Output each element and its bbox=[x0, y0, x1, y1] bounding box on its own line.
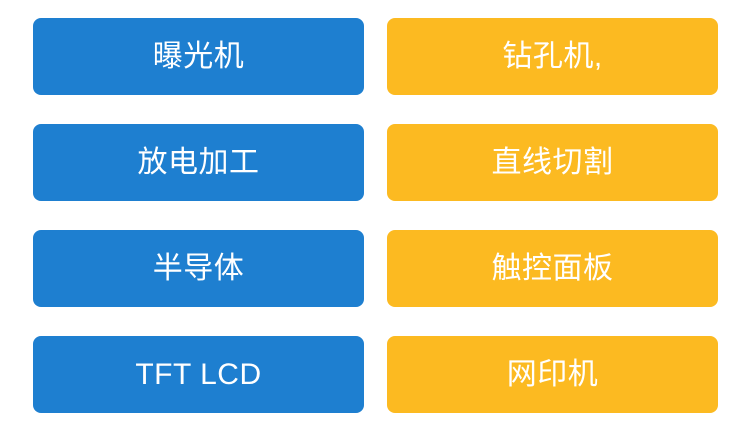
tag-button-screen-printing-machine[interactable]: 网印机 bbox=[387, 336, 718, 413]
tag-button-label: 触控面板 bbox=[492, 254, 614, 284]
tag-button-tft-lcd[interactable]: TFT LCD bbox=[33, 336, 364, 413]
tag-button-edm-machining[interactable]: 放电加工 bbox=[33, 124, 364, 201]
tag-button-label: 直线切割 bbox=[492, 148, 614, 178]
tag-button-label: 钻孔机, bbox=[502, 42, 602, 72]
tag-button-label: TFT LCD bbox=[135, 360, 261, 390]
tag-button-touch-panel[interactable]: 触控面板 bbox=[387, 230, 718, 307]
tag-button-label: 放电加工 bbox=[138, 148, 260, 178]
tag-button-label: 网印机 bbox=[507, 360, 599, 390]
tag-button-label: 半导体 bbox=[153, 254, 245, 284]
tag-button-drilling-machine[interactable]: 钻孔机, bbox=[387, 18, 718, 95]
tag-button-wire-cutting[interactable]: 直线切割 bbox=[387, 124, 718, 201]
tag-button-label: 曝光机 bbox=[153, 42, 245, 72]
tag-button-semiconductor[interactable]: 半导体 bbox=[33, 230, 364, 307]
tag-grid: 曝光机 钻孔机, 放电加工 直线切割 半导体 触控面板 TFT LCD 网印机 bbox=[33, 18, 718, 412]
tag-button-exposure-machine[interactable]: 曝光机 bbox=[33, 18, 364, 95]
tag-grid-page: 曝光机 钻孔机, 放电加工 直线切割 半导体 触控面板 TFT LCD 网印机 bbox=[0, 0, 750, 429]
